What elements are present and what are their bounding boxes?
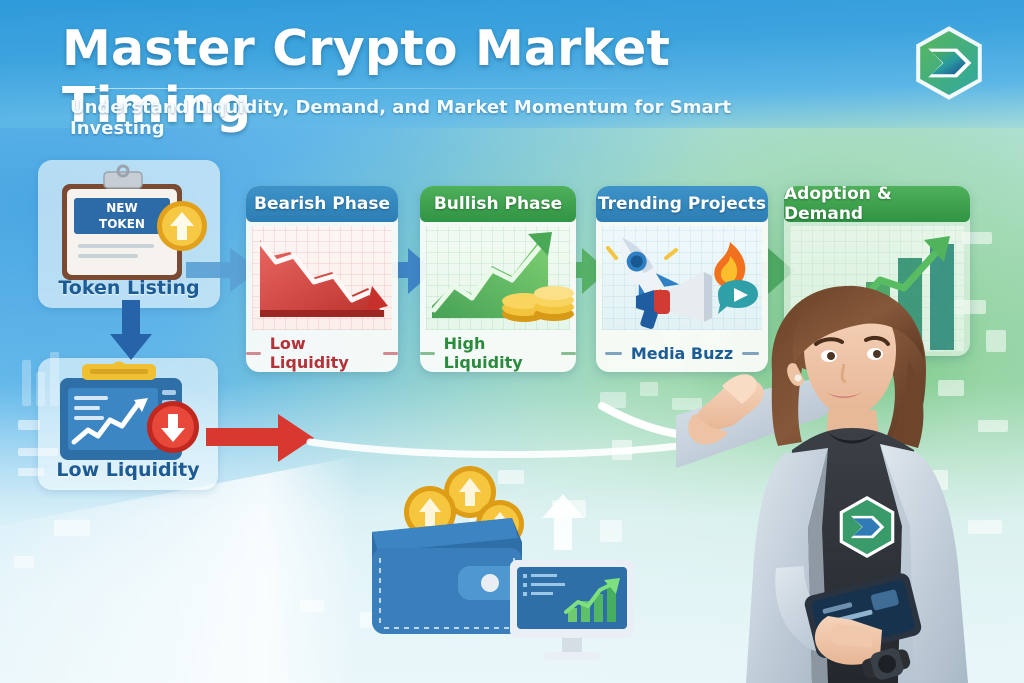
caption-dash-left	[605, 352, 622, 355]
low-liquidity-panel[interactable]: Low Liquidity	[38, 358, 218, 490]
card-bullish-title: Bullish Phase	[420, 186, 576, 222]
card-adoption-title: Adoption & Demand	[784, 186, 970, 222]
low-liquidity-label: Low Liquidity	[38, 459, 218, 481]
svg-text:TOKEN: TOKEN	[99, 217, 145, 231]
card-bullish-phase[interactable]: Bullish Phase	[420, 186, 576, 372]
card-trending-title: Trending Projects	[596, 186, 768, 222]
red-down-arrow-badge-icon	[144, 398, 202, 456]
earring	[795, 375, 802, 382]
card-bearish-phase[interactable]: Bearish Phase Low Liquidity	[246, 186, 398, 372]
infographic-canvas: Master Crypto Market Timing Understand L…	[0, 0, 1024, 683]
caption-dash-right	[383, 352, 398, 355]
card-bearish-title: Bearish Phase	[246, 186, 398, 222]
white-up-arrow-motif-icon	[540, 492, 586, 554]
declining-red-chart-icon	[246, 222, 398, 334]
presenter-pointing	[676, 268, 1024, 683]
card-bullish-caption: High Liquidity	[444, 334, 553, 372]
card-bearish-body	[246, 222, 398, 334]
card-bullish-caption-row: High Liquidity	[420, 334, 576, 372]
arrow-listing-to-low-liquidity	[108, 300, 154, 364]
card-bullish-body	[420, 222, 576, 334]
caption-dash-left	[420, 352, 435, 355]
caption-dash-right	[561, 352, 576, 355]
page-subtitle: Understand Liquidity, Demand, and Market…	[70, 97, 830, 139]
svg-text:NEW: NEW	[106, 201, 137, 215]
hexagon-s-logo	[908, 23, 990, 103]
card-bearish-caption-row: Low Liquidity	[246, 334, 398, 372]
card-bearish-caption: Low Liquidity	[270, 334, 375, 372]
monitor-growth-chart	[506, 556, 638, 666]
rising-green-arrow-icon	[420, 222, 576, 334]
title-divider	[64, 88, 684, 89]
caption-dash-left	[246, 352, 261, 355]
